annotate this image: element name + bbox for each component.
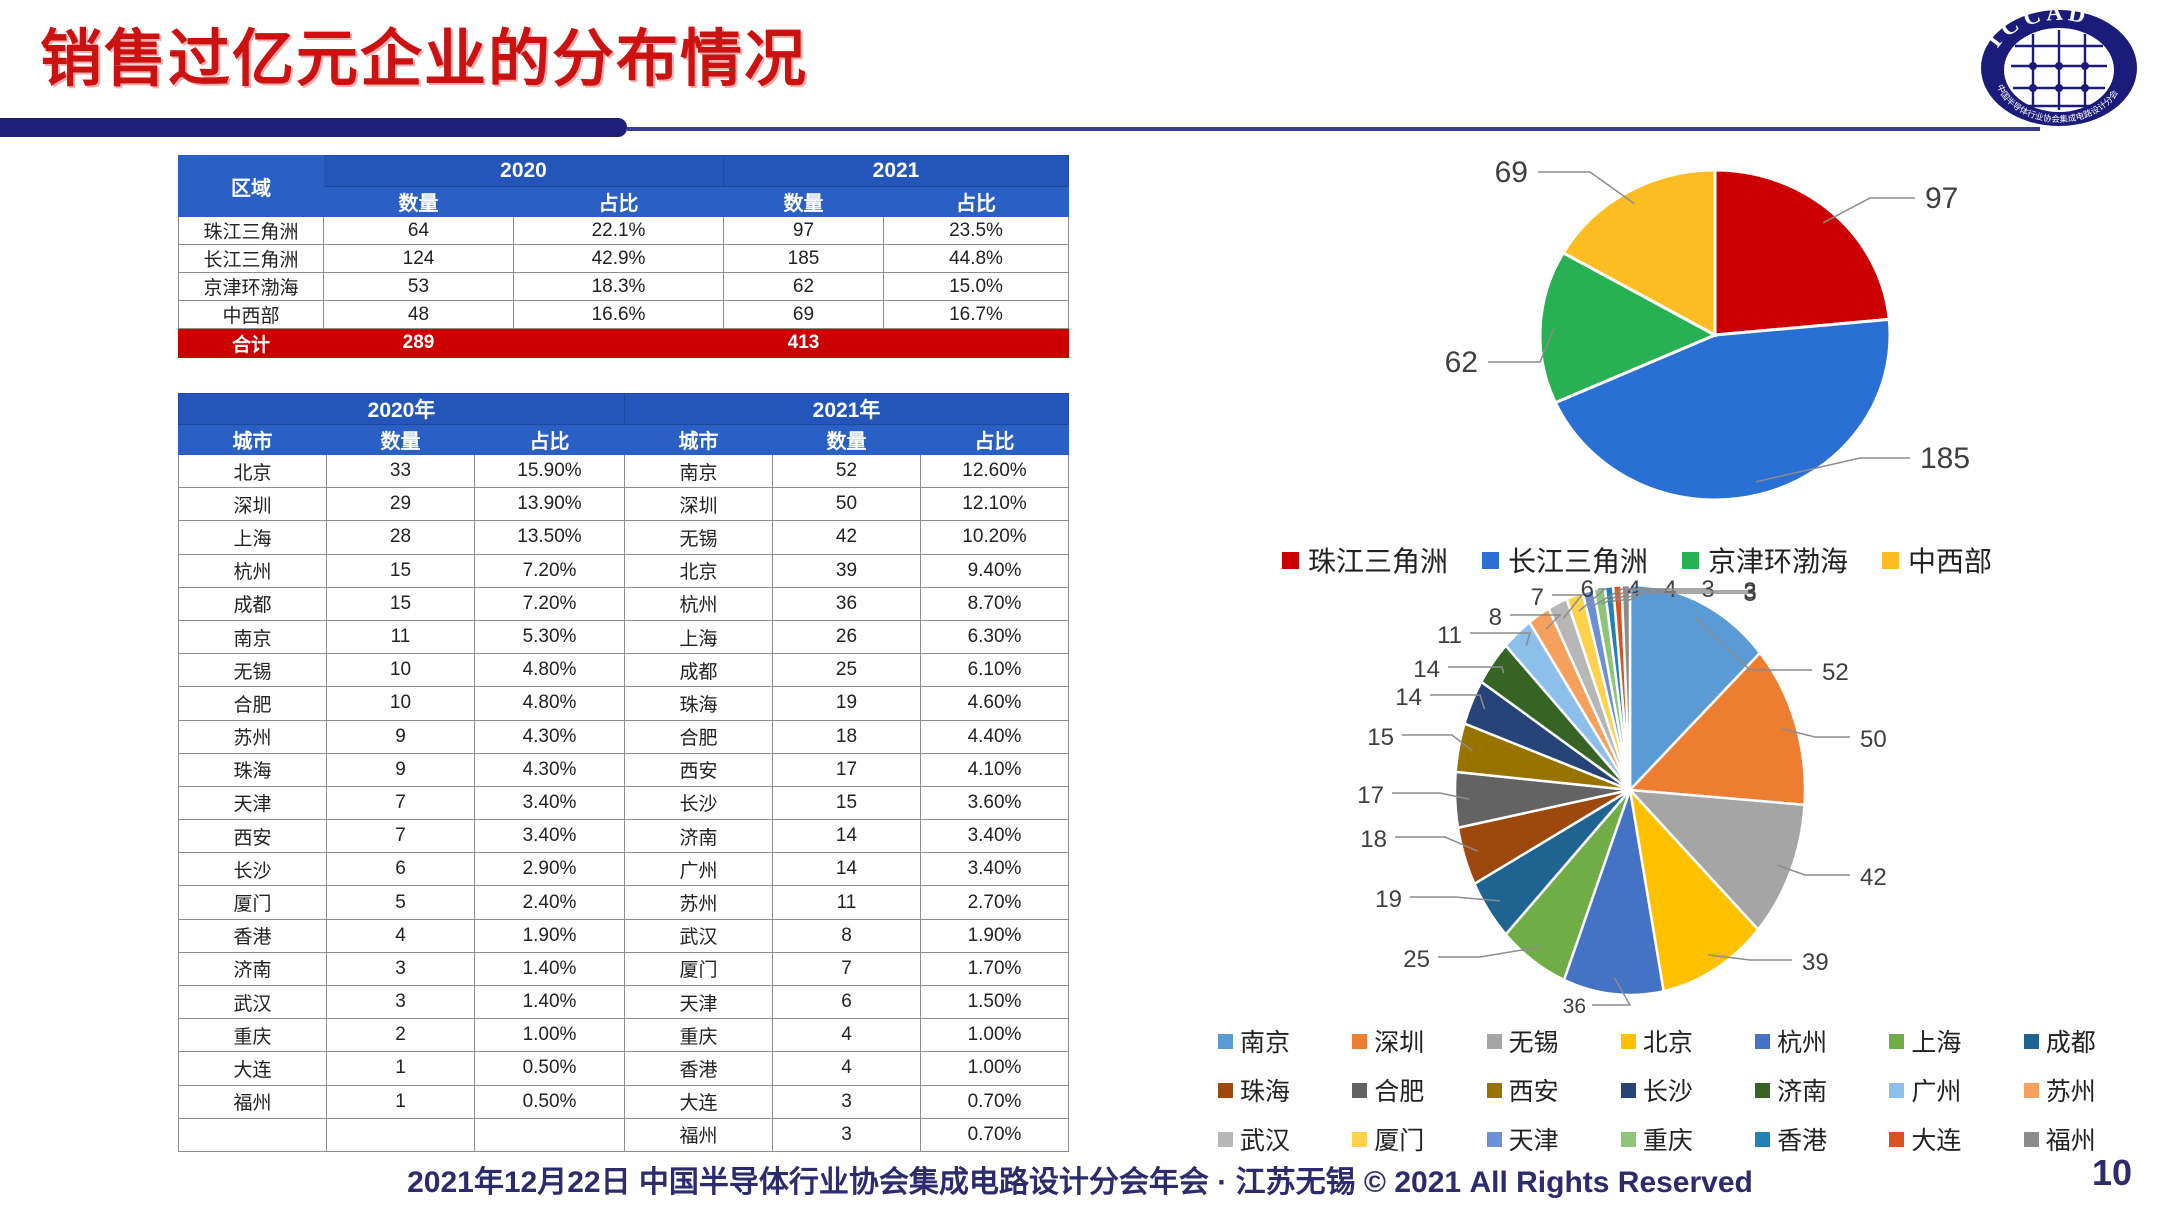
city-name-2020: 重庆: [179, 1019, 327, 1052]
pie-data-label: 39: [1802, 949, 1829, 976]
city-pct-2021: 0.70%: [921, 1085, 1069, 1118]
city-name-2020: 济南: [179, 952, 327, 985]
city-header-pct-2020: 占比: [475, 425, 625, 455]
city-pct-2021: 3.40%: [921, 820, 1069, 853]
table-row: 天津73.40%长沙153.60%: [179, 786, 1069, 819]
city-header-city-2021: 城市: [625, 425, 773, 455]
legend-label: 成都: [2046, 1023, 2096, 1059]
city-header-pct-2021: 占比: [921, 425, 1069, 455]
city-pct-2021: 1.90%: [921, 919, 1069, 952]
city-count-2021: 8: [773, 919, 921, 952]
legend-swatch-icon: [1352, 1132, 1367, 1147]
footer-copyright: 2021年12月22日 中国半导体行业协会集成电路设计分会年会 · 江苏无锡 ©…: [0, 1157, 2160, 1201]
city-count-2021: 3: [773, 1085, 921, 1118]
city-pct-2020: 1.40%: [475, 986, 625, 1019]
city-name-2020: 上海: [179, 521, 327, 554]
legend-item-厦门[interactable]: 厦门: [1352, 1121, 1486, 1157]
legend-label: 北京: [1643, 1023, 1693, 1059]
city-table-year-2021: 2021年: [625, 394, 1069, 425]
city-count-2020: 15: [327, 554, 475, 587]
table-row: 深圳2913.90%深圳5012.10%: [179, 488, 1069, 521]
city-pct-2020: 1.40%: [475, 952, 625, 985]
city-count-2021: 52: [773, 455, 921, 488]
city-pct-2020: 1.90%: [475, 919, 625, 952]
legend-label: 香港: [1777, 1121, 1827, 1157]
city-name-2020: 西安: [179, 820, 327, 853]
city-count-2020: 3: [327, 952, 475, 985]
city-pct-2020: 2.90%: [475, 853, 625, 886]
table-row: 福州10.50%大连30.70%: [179, 1085, 1069, 1118]
pie-data-label: 11: [1437, 622, 1462, 649]
total-count-2021: 413: [724, 329, 884, 358]
city-count-2021: 4: [773, 1019, 921, 1052]
city-pct-2020: 4.80%: [475, 654, 625, 687]
legend-item-珠江三角洲[interactable]: 珠江三角洲: [1282, 540, 1448, 580]
region-pct-2021: 16.7%: [884, 301, 1069, 329]
legend-label: 武汉: [1240, 1121, 1290, 1157]
city-count-2020: 1: [327, 1085, 475, 1118]
city-name-2020: 福州: [179, 1085, 327, 1118]
city-pct-2021: 4.10%: [921, 753, 1069, 786]
legend-swatch-icon: [1621, 1083, 1636, 1098]
city-count-2020: 2: [327, 1019, 475, 1052]
table-row: 中西部 48 16.6% 69 16.7%: [179, 301, 1069, 329]
region-count-2020: 48: [324, 301, 514, 329]
city-count-2021: 4: [773, 1052, 921, 1085]
legend-label: 长沙: [1643, 1072, 1693, 1108]
legend-swatch-icon: [1487, 1083, 1502, 1098]
city-name-2020: 武汉: [179, 986, 327, 1019]
legend-label: 南京: [1240, 1023, 1290, 1059]
table-row: 苏州94.30%合肥184.40%: [179, 720, 1069, 753]
city-count-2021: 14: [773, 853, 921, 886]
city-pie-legend: 南京深圳无锡北京杭州上海成都珠海合肥西安长沙济南广州苏州武汉厦门天津重庆香港大连…: [1218, 1023, 2158, 1170]
legend-label: 上海: [1911, 1023, 1961, 1059]
legend-item-广州[interactable]: 广州: [1889, 1072, 2023, 1108]
city-pct-2021: 12.60%: [921, 455, 1069, 488]
table-row: 无锡104.80%成都256.10%: [179, 654, 1069, 687]
city-pct-2020: 4.30%: [475, 753, 625, 786]
city-count-2021: 19: [773, 687, 921, 720]
city-name-2021: 武汉: [625, 919, 773, 952]
pie-data-label: 62: [1445, 346, 1478, 379]
city-header-city-2020: 城市: [179, 425, 327, 455]
city-name-2021: 重庆: [625, 1019, 773, 1052]
legend-swatch-icon: [2024, 1083, 2039, 1098]
city-count-2021: 42: [773, 521, 921, 554]
city-name-2021: 天津: [625, 986, 773, 1019]
city-count-2020: 28: [327, 521, 475, 554]
legend-label: 天津: [1509, 1121, 1559, 1157]
legend-item-武汉[interactable]: 武汉: [1218, 1121, 1352, 1157]
region-name: 中西部: [179, 301, 324, 329]
pie-data-label: 185: [1920, 442, 1970, 475]
region-count-2021: 69: [724, 301, 884, 329]
legend-item-珠海[interactable]: 珠海: [1218, 1072, 1352, 1108]
city-name-2020: 苏州: [179, 720, 327, 753]
table-row: 大连10.50%香港41.00%: [179, 1052, 1069, 1085]
city-count-2021: 26: [773, 620, 921, 653]
legend-swatch-icon: [1889, 1034, 1904, 1049]
region-count-2020: 124: [324, 245, 514, 273]
city-count-2020: 33: [327, 455, 475, 488]
region-table-sub-count-2021: 数量: [724, 187, 884, 217]
pie-data-label: 15: [1367, 724, 1394, 751]
legend-row: 武汉厦门天津重庆香港大连福州: [1218, 1121, 2158, 1157]
table-row: 南京115.30%上海266.30%: [179, 620, 1069, 653]
city-distribution-table: 2020年 2021年 城市 数量 占比 城市 数量 占比 北京3315.90%…: [178, 393, 1069, 1152]
legend-item-福州[interactable]: 福州: [2024, 1121, 2158, 1157]
pie-data-label: 36: [1563, 995, 1586, 1018]
city-name-2021: 无锡: [625, 521, 773, 554]
table-row: 西安73.40%济南143.40%: [179, 820, 1069, 853]
city-pct-2021: 0.70%: [921, 1118, 1069, 1151]
region-name: 珠江三角洲: [179, 217, 324, 245]
city-pct-2020: 3.40%: [475, 786, 625, 819]
legend-swatch-icon: [1218, 1083, 1233, 1098]
city-pct-2020: 3.40%: [475, 820, 625, 853]
legend-item-长江三角洲[interactable]: 长江三角洲: [1482, 540, 1648, 580]
table-row: 珠海94.30%西安174.10%: [179, 753, 1069, 786]
legend-item-天津[interactable]: 天津: [1487, 1121, 1621, 1157]
city-name-2021: 香港: [625, 1052, 773, 1085]
city-name-2021: 长沙: [625, 786, 773, 819]
legend-item-合肥[interactable]: 合肥: [1352, 1072, 1486, 1108]
legend-item-重庆[interactable]: 重庆: [1621, 1121, 1755, 1157]
table-row: 合肥104.80%珠海194.60%: [179, 687, 1069, 720]
city-count-2020: 29: [327, 488, 475, 521]
legend-item-香港[interactable]: 香港: [1755, 1121, 1889, 1157]
city-pct-2021: 3.40%: [921, 853, 1069, 886]
pie-data-label: 25: [1403, 946, 1430, 973]
legend-swatch-icon: [2024, 1132, 2039, 1147]
city-name-2020: 香港: [179, 919, 327, 952]
city-count-2021: 6: [773, 986, 921, 1019]
pie-data-label: 6: [1581, 576, 1594, 603]
legend-swatch-icon: [1482, 552, 1499, 569]
legend-swatch-icon: [1218, 1034, 1233, 1049]
total-pct-2020: [514, 329, 724, 358]
legend-label: 苏州: [2046, 1072, 2096, 1108]
city-name-2021: 上海: [625, 620, 773, 653]
city-count-2020: 11: [327, 620, 475, 653]
table-row: 济南31.40%厦门71.70%: [179, 952, 1069, 985]
legend-label: 合肥: [1374, 1072, 1424, 1108]
total-count-2020: 289: [324, 329, 514, 358]
city-pct-2021: 1.70%: [921, 952, 1069, 985]
city-name-2021: 北京: [625, 554, 773, 587]
legend-label: 无锡: [1509, 1023, 1559, 1059]
legend-swatch-icon: [1352, 1034, 1367, 1049]
city-name-2021: 西安: [625, 753, 773, 786]
city-name-2020: 天津: [179, 786, 327, 819]
city-name-2020: 南京: [179, 620, 327, 653]
city-pct-2021: 6.30%: [921, 620, 1069, 653]
city-count-2020: 7: [327, 820, 475, 853]
city-count-2021: 15: [773, 786, 921, 819]
legend-label: 中西部: [1908, 540, 1992, 580]
city-name-2021: 厦门: [625, 952, 773, 985]
city-count-2020: 10: [327, 687, 475, 720]
city-pct-2020: 15.90%: [475, 455, 625, 488]
city-name-2021: 大连: [625, 1085, 773, 1118]
legend-swatch-icon: [1352, 1083, 1367, 1098]
region-pct-2020: 22.1%: [514, 217, 724, 245]
legend-swatch-icon: [1755, 1132, 1770, 1147]
city-name-2020: 无锡: [179, 654, 327, 687]
city-pct-2021: 6.10%: [921, 654, 1069, 687]
city-count-2020: 4: [327, 919, 475, 952]
pie-data-label: 8: [1489, 604, 1502, 631]
region-table-sub-pct-2021: 占比: [884, 187, 1069, 217]
total-label: 合计: [179, 329, 324, 358]
city-pct-2021: 8.70%: [921, 587, 1069, 620]
city-pct-2020: 5.30%: [475, 620, 625, 653]
city-header-count-2021: 数量: [773, 425, 921, 455]
city-count-2021: 7: [773, 952, 921, 985]
region-count-2021: 185: [724, 245, 884, 273]
region-pct-2020: 18.3%: [514, 273, 724, 301]
legend-item-南京[interactable]: 南京: [1218, 1023, 1352, 1059]
region-count-2021: 97: [724, 217, 884, 245]
region-pct-2020: 42.9%: [514, 245, 724, 273]
legend-item-中西部[interactable]: 中西部: [1882, 540, 1992, 580]
city-count-2021: 50: [773, 488, 921, 521]
city-count-2020: 1: [327, 1052, 475, 1085]
table-row: 福州30.70%: [179, 1118, 1069, 1151]
table-row: 杭州157.20%北京399.40%: [179, 554, 1069, 587]
legend-swatch-icon: [1218, 1132, 1233, 1147]
city-name-2020: 深圳: [179, 488, 327, 521]
legend-row: 南京深圳无锡北京杭州上海成都: [1218, 1023, 2158, 1059]
legend-swatch-icon: [1282, 552, 1299, 569]
region-table-sub-pct-2020: 占比: [514, 187, 724, 217]
region-table-year-2020: 2020: [324, 156, 724, 187]
table-row: 北京3315.90%南京5212.60%: [179, 455, 1069, 488]
city-name-2021: 苏州: [625, 886, 773, 919]
city-name-2020: [179, 1118, 327, 1151]
region-table-total-row: 合计 289 413: [179, 329, 1069, 358]
city-pct-2021: 9.40%: [921, 554, 1069, 587]
region-name: 京津环渤海: [179, 273, 324, 301]
legend-row: 珠海合肥西安长沙济南广州苏州: [1218, 1072, 2158, 1108]
table-row: 成都157.20%杭州368.70%: [179, 587, 1069, 620]
region-pie-chart: 971856269: [1270, 110, 2150, 540]
city-count-2021: 36: [773, 587, 921, 620]
legend-label: 京津环渤海: [1708, 540, 1848, 580]
city-name-2021: 深圳: [625, 488, 773, 521]
city-pie-chart: 5250423936251918171514141187644333: [1230, 575, 2150, 1025]
city-pct-2020: 7.20%: [475, 554, 625, 587]
city-count-2020: 9: [327, 753, 475, 786]
legend-item-无锡[interactable]: 无锡: [1487, 1023, 1621, 1059]
city-name-2021: 杭州: [625, 587, 773, 620]
page-title: 销售过亿元企业的分布情况: [40, 8, 808, 98]
pie-data-label: 42: [1860, 864, 1887, 891]
legend-label: 深圳: [1374, 1023, 1424, 1059]
legend-swatch-icon: [1682, 552, 1699, 569]
region-count-2020: 64: [324, 217, 514, 245]
title-underline-thick: [0, 118, 627, 137]
legend-label: 福州: [2046, 1121, 2096, 1157]
pie-data-label: 3: [1743, 580, 1756, 607]
city-count-2021: 39: [773, 554, 921, 587]
city-name-2020: 北京: [179, 455, 327, 488]
legend-label: 珠海: [1240, 1072, 1290, 1108]
city-pct-2020: 2.40%: [475, 886, 625, 919]
region-count-2020: 53: [324, 273, 514, 301]
city-pct-2021: 4.40%: [921, 720, 1069, 753]
city-count-2021: 3: [773, 1118, 921, 1151]
region-pct-2020: 16.6%: [514, 301, 724, 329]
legend-label: 西安: [1509, 1072, 1559, 1108]
city-count-2021: 17: [773, 753, 921, 786]
city-pct-2021: 3.60%: [921, 786, 1069, 819]
region-pct-2021: 15.0%: [884, 273, 1069, 301]
table-row: 长江三角洲 124 42.9% 185 44.8%: [179, 245, 1069, 273]
legend-swatch-icon: [1487, 1034, 1502, 1049]
city-name-2021: 广州: [625, 853, 773, 886]
city-name-2021: 南京: [625, 455, 773, 488]
city-pct-2021: 1.00%: [921, 1019, 1069, 1052]
table-row: 上海2813.50%无锡4210.20%: [179, 521, 1069, 554]
city-name-2020: 杭州: [179, 554, 327, 587]
pie-data-label: 52: [1822, 659, 1849, 686]
legend-label: 珠江三角洲: [1308, 540, 1448, 580]
table-row: 武汉31.40%天津61.50%: [179, 986, 1069, 1019]
city-pct-2020: 1.00%: [475, 1019, 625, 1052]
city-count-2020: 5: [327, 886, 475, 919]
total-pct-2021: [884, 329, 1069, 358]
pie-data-label: 69: [1495, 156, 1528, 189]
legend-label: 长江三角洲: [1508, 540, 1648, 580]
city-count-2020: [327, 1118, 475, 1151]
legend-label: 厦门: [1374, 1121, 1424, 1157]
region-pie-legend: 珠江三角洲长江三角洲京津环渤海中西部: [1282, 540, 2142, 580]
city-pct-2021: 12.10%: [921, 488, 1069, 521]
city-name-2020: 合肥: [179, 687, 327, 720]
city-pct-2020: 13.50%: [475, 521, 625, 554]
city-name-2021: 济南: [625, 820, 773, 853]
city-name-2020: 珠海: [179, 753, 327, 786]
page-number: 10: [2092, 1152, 2132, 1194]
legend-swatch-icon: [1621, 1132, 1636, 1147]
legend-item-成都[interactable]: 成都: [2024, 1023, 2158, 1059]
pie-data-label: 97: [1925, 182, 1958, 215]
pie-data-label: 14: [1413, 656, 1440, 683]
city-count-2020: 3: [327, 986, 475, 1019]
region-pct-2021: 44.8%: [884, 245, 1069, 273]
legend-swatch-icon: [2024, 1034, 2039, 1049]
city-pct-2021: 1.00%: [921, 1052, 1069, 1085]
table-row: 香港41.90%武汉81.90%: [179, 919, 1069, 952]
legend-swatch-icon: [1621, 1034, 1636, 1049]
city-name-2020: 成都: [179, 587, 327, 620]
city-name-2020: 厦门: [179, 886, 327, 919]
pie-data-label: 18: [1360, 826, 1387, 853]
city-pct-2020: [475, 1118, 625, 1151]
legend-swatch-icon: [1882, 552, 1899, 569]
table-row: 长沙62.90%广州143.40%: [179, 853, 1069, 886]
pie-slice: [1715, 170, 1889, 335]
legend-swatch-icon: [1487, 1132, 1502, 1147]
city-count-2020: 7: [327, 786, 475, 819]
city-count-2020: 9: [327, 720, 475, 753]
pie-data-label: 7: [1531, 584, 1544, 611]
city-name-2021: 福州: [625, 1118, 773, 1151]
table-row: 珠江三角洲 64 22.1% 97 23.5%: [179, 217, 1069, 245]
city-count-2021: 18: [773, 720, 921, 753]
region-pct-2021: 23.5%: [884, 217, 1069, 245]
city-name-2021: 成都: [625, 654, 773, 687]
region-distribution-table: 区域 2020 2021 数量 占比 数量 占比 珠江三角洲 64 22.1% …: [178, 155, 1069, 358]
legend-swatch-icon: [1889, 1132, 1904, 1147]
city-pct-2020: 0.50%: [475, 1085, 625, 1118]
legend-item-京津环渤海[interactable]: 京津环渤海: [1682, 540, 1848, 580]
city-pct-2020: 0.50%: [475, 1052, 625, 1085]
legend-item-苏州[interactable]: 苏州: [2024, 1072, 2158, 1108]
legend-swatch-icon: [1889, 1083, 1904, 1098]
city-count-2020: 10: [327, 654, 475, 687]
region-count-2021: 62: [724, 273, 884, 301]
slide-root: 销售过亿元企业的分布情况 I C C A D: [0, 0, 2160, 1216]
legend-item-长沙[interactable]: 长沙: [1621, 1072, 1755, 1108]
legend-swatch-icon: [1755, 1083, 1770, 1098]
legend-item-北京[interactable]: 北京: [1621, 1023, 1755, 1059]
table-row: 京津环渤海 53 18.3% 62 15.0%: [179, 273, 1069, 301]
legend-item-深圳[interactable]: 深圳: [1352, 1023, 1486, 1059]
legend-item-大连[interactable]: 大连: [1889, 1121, 2023, 1157]
legend-label: 杭州: [1777, 1023, 1827, 1059]
pie-data-label: 3: [1701, 576, 1714, 603]
table-row: 厦门52.40%苏州112.70%: [179, 886, 1069, 919]
city-count-2020: 6: [327, 853, 475, 886]
city-header-count-2020: 数量: [327, 425, 475, 455]
legend-label: 济南: [1777, 1072, 1827, 1108]
city-count-2021: 14: [773, 820, 921, 853]
region-name: 长江三角洲: [179, 245, 324, 273]
city-pct-2021: 4.60%: [921, 687, 1069, 720]
city-name-2021: 合肥: [625, 720, 773, 753]
legend-swatch-icon: [1755, 1034, 1770, 1049]
legend-label: 重庆: [1643, 1121, 1693, 1157]
legend-label: 广州: [1911, 1072, 1961, 1108]
city-pct-2020: 4.30%: [475, 720, 625, 753]
table-row: 重庆21.00%重庆41.00%: [179, 1019, 1069, 1052]
region-table-year-2021: 2021: [724, 156, 1069, 187]
legend-item-西安[interactable]: 西安: [1487, 1072, 1621, 1108]
city-pct-2020: 13.90%: [475, 488, 625, 521]
region-table-corner: 区域: [179, 156, 324, 217]
city-pct-2021: 1.50%: [921, 986, 1069, 1019]
legend-label: 大连: [1911, 1121, 1961, 1157]
city-name-2020: 长沙: [179, 853, 327, 886]
city-count-2021: 11: [773, 886, 921, 919]
pie-data-label: 19: [1375, 886, 1402, 913]
pie-data-label: 14: [1395, 684, 1422, 711]
region-table-sub-count-2020: 数量: [324, 187, 514, 217]
pie-data-label: 50: [1860, 726, 1887, 753]
legend-item-杭州[interactable]: 杭州: [1755, 1023, 1889, 1059]
city-name-2020: 大连: [179, 1052, 327, 1085]
city-pct-2020: 7.20%: [475, 587, 625, 620]
city-count-2021: 25: [773, 654, 921, 687]
city-table-year-2020: 2020年: [179, 394, 625, 425]
city-count-2020: 15: [327, 587, 475, 620]
legend-item-上海[interactable]: 上海: [1889, 1023, 2023, 1059]
city-name-2021: 珠海: [625, 687, 773, 720]
legend-item-济南[interactable]: 济南: [1755, 1072, 1889, 1108]
